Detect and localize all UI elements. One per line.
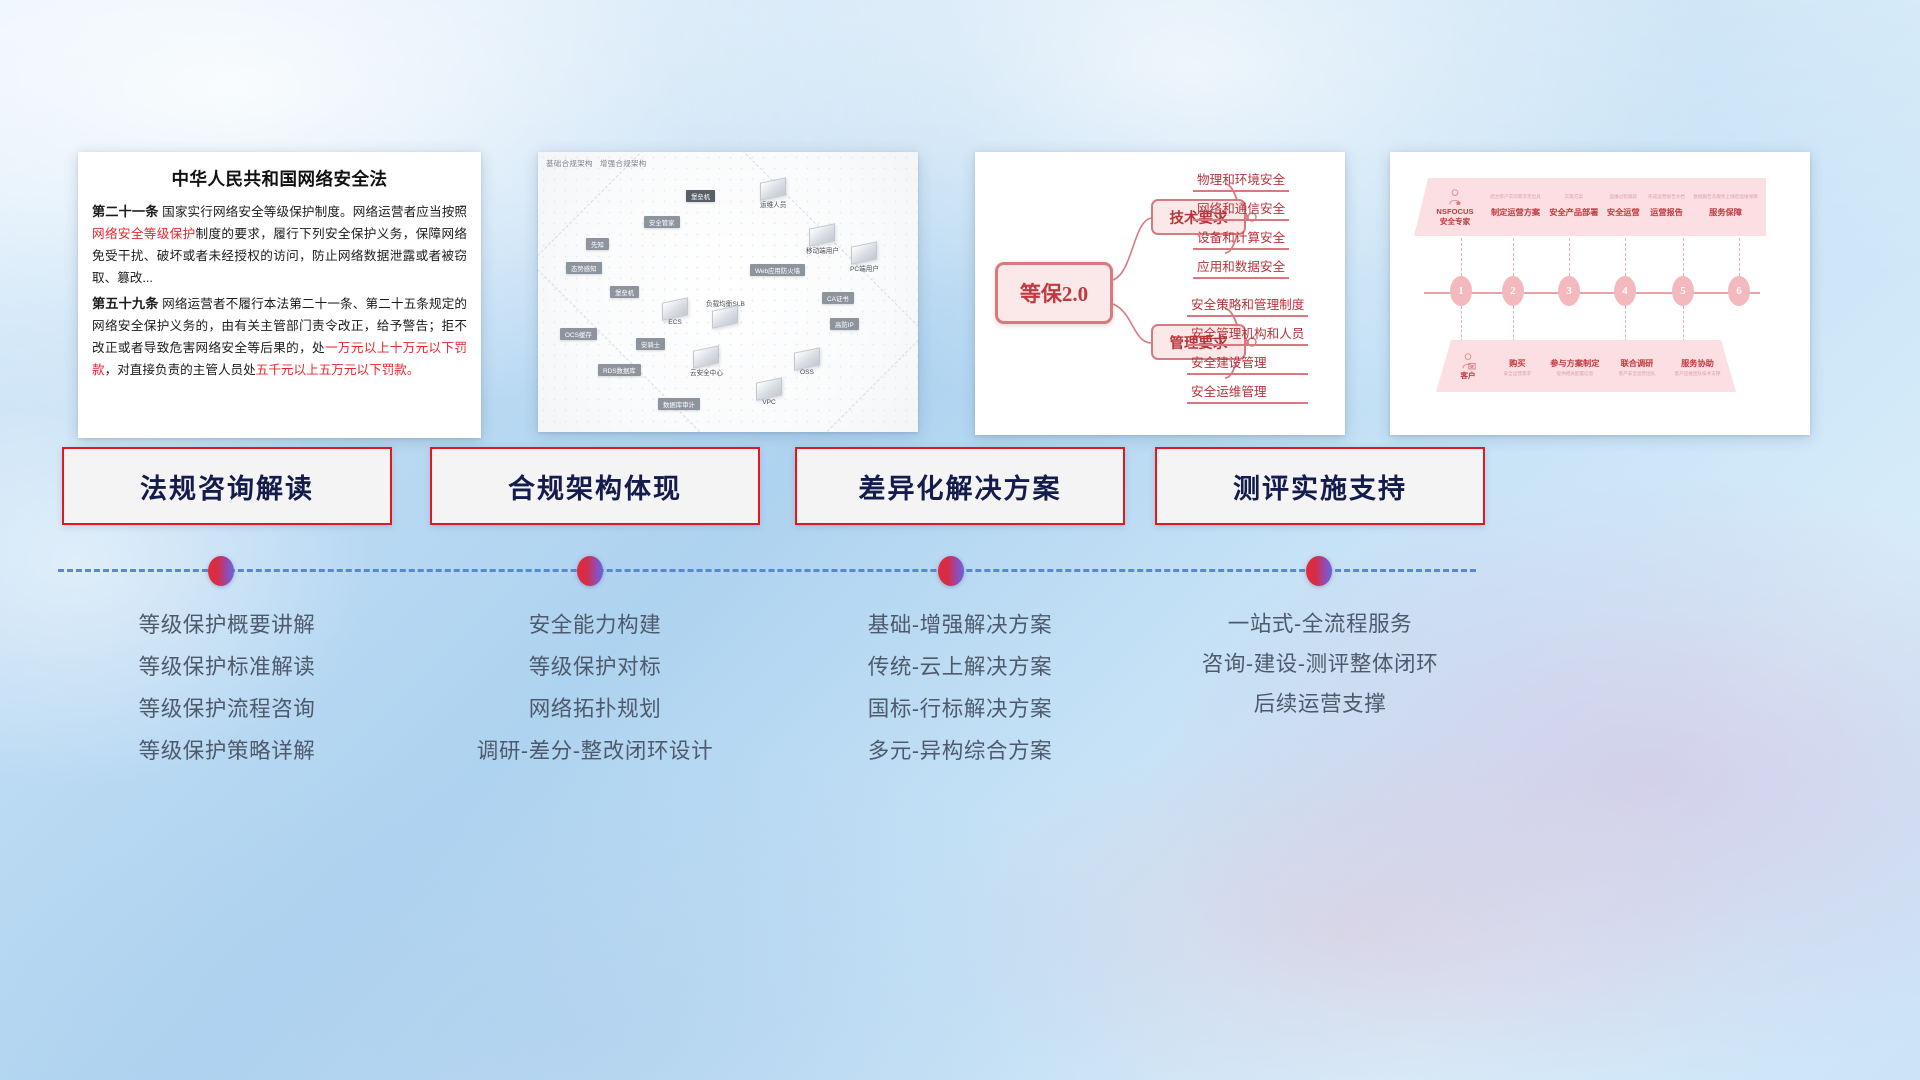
timeline-dash: [1683, 306, 1684, 342]
list-item: 一站式-全流程服务: [1155, 604, 1485, 644]
timeline-axis: [1424, 292, 1760, 294]
timeline-dash: [1513, 306, 1514, 342]
mindmap-leaves-management: 安全策略和管理制度 安全管理机构和人员 安全建设管理 安全运维管理: [1187, 293, 1308, 409]
title-box-evaluation-support[interactable]: 测评实施支持: [1155, 447, 1485, 525]
list-item: 等级保护策略详解: [62, 730, 392, 772]
list-item: 等级保护流程咨询: [62, 688, 392, 730]
node-pill-db-audit: 数据库审计: [658, 398, 700, 410]
node-mobile-user: 移动端用户: [806, 226, 839, 255]
list-item: 后续运营支撑: [1155, 684, 1485, 724]
node-pill-rds-db: RDS数据库: [598, 364, 641, 376]
article-59-highlight-b: 五千元以上五万元以下罚款。: [256, 363, 420, 377]
architecture-tags: 基础合规架构 增强合规架构: [546, 158, 647, 169]
customer-person-icon: [1460, 352, 1476, 370]
list-item: 咨询-建设-测评整体闭环: [1155, 644, 1485, 684]
nsfocus-top-step: 数据报告及服务上线后运维保障服务保障: [1693, 194, 1757, 220]
list-item: 等级保护标准解读: [62, 646, 392, 688]
node-cloud-security-center: 云安全中心: [690, 348, 723, 377]
node-ops-user: 运维人员: [760, 180, 786, 209]
timeline-dashed-line: [58, 569, 1476, 572]
nsfocus-expert-banner: NSFOCUS 安全专家 结合客户实际需求定出具制定运营方案 实施方案安全产品部…: [1414, 178, 1766, 236]
title-box-compliance-architecture[interactable]: 合规架构体现: [430, 447, 760, 525]
node-pill-situational-awareness: 态势感知: [566, 262, 602, 274]
tag-enhanced: 增强合规架构: [600, 158, 647, 169]
nsfocus-bottom-step: 联合调研客户安全运营团队: [1619, 353, 1656, 379]
law-article-59: 第五十九条 网络运营者不履行本法第二十一条、第二十五条规定的网络安全保护义务的，…: [92, 292, 467, 381]
timeline-number: 3: [1558, 276, 1580, 306]
node-oss: OSS: [794, 350, 820, 376]
title-box-legal-consulting[interactable]: 法规咨询解读: [62, 447, 392, 525]
node-vpc: VPC: [756, 380, 782, 406]
nsfocus-bottom-step: 购买安全运营需求: [1504, 353, 1532, 379]
list-item: 等级保护对标: [430, 646, 760, 688]
law-article-21: 第二十一条 国家实行网络安全等级保护制度。网络运营者应当按照网络安全等级保护制度…: [92, 200, 467, 289]
timeline-number: 4: [1614, 276, 1636, 306]
timeline-number: 2: [1502, 276, 1524, 306]
list-item: 网络拓扑规划: [430, 688, 760, 730]
list-item: 国标-行标解决方案: [795, 688, 1125, 730]
description-lists-row: 等级保护概要讲解 等级保护标准解读 等级保护流程咨询 等级保护策略详解 安全能力…: [0, 604, 1920, 824]
timeline-dash: [1569, 238, 1570, 276]
node-pill-security-butler: 安全管家: [644, 216, 680, 228]
timeline-number: 6: [1728, 276, 1750, 306]
progress-timeline: [0, 556, 1920, 590]
mindmap-leaf: 安全策略和管理制度: [1187, 293, 1308, 317]
article-59-label: 第五十九条: [92, 296, 159, 311]
nsfocus-bottom-step: 参与方案制定提供相关配置信息: [1550, 353, 1599, 379]
title-boxes-row: 法规咨询解读 合规架构体现 差异化解决方案 测评实施支持: [0, 447, 1920, 527]
expert-label: NSFOCUS 安全专家: [1426, 207, 1484, 226]
law-title: 中华人民共和国网络安全法: [92, 166, 467, 191]
nsfocus-bottom-step: 服务协助客户运维团队技术支撑: [1674, 353, 1720, 379]
article-21-highlight: 网络安全等级保护: [92, 227, 196, 241]
node-pill-anti-ddos: 高防IP: [830, 318, 859, 330]
mindmap-leaf: 安全建设管理: [1187, 351, 1308, 375]
mindmap-leaf: 安全运维管理: [1187, 380, 1308, 404]
title-label: 测评实施支持: [1233, 467, 1407, 506]
mindmap-leaf: 安全管理机构和人员: [1187, 322, 1308, 346]
mindmap-leaf: 设备和计算安全: [1193, 226, 1289, 250]
timeline-dash: [1625, 238, 1626, 276]
screenshot-cards-row: 中华人民共和国网络安全法 第二十一条 国家实行网络安全等级保护制度。网络运营者应…: [0, 152, 1920, 442]
node-pc-user: PC端用户: [850, 244, 879, 273]
nsfocus-top-step: 运维过程跟踪安全运营: [1607, 194, 1640, 220]
article-21-label: 第二十一条: [92, 204, 159, 219]
tag-basic: 基础合规架构: [546, 158, 593, 169]
list-item: 调研-差分-整改闭环设计: [430, 730, 760, 772]
timeline-dash: [1683, 238, 1684, 276]
mindmap-leaf: 网络和通信安全: [1193, 197, 1289, 221]
timeline-marker-4[interactable]: [1306, 556, 1332, 586]
timeline-dash: [1625, 306, 1626, 342]
card-cloud-architecture: 基础合规架构 增强合规架构 堡垒机 安全管家 先知 态势感知 堡垒机 安骑士 W…: [538, 152, 918, 432]
timeline-dash: [1739, 238, 1740, 276]
article-59-text-b: ，对直接负责的主管人员处: [105, 363, 256, 377]
title-label: 法规咨询解读: [140, 467, 314, 506]
title-box-differentiated-solution[interactable]: 差异化解决方案: [795, 447, 1125, 525]
timeline-number: 1: [1450, 276, 1472, 306]
mindmap-leaf: 应用和数据安全: [1193, 255, 1289, 279]
mindmap-leaves-technical: 物理和环境安全 网络和通信安全 设备和计算安全 应用和数据安全: [1193, 168, 1289, 284]
node-pill-xianzhi: 先知: [586, 238, 609, 250]
nsfocus-top-step: 实施方案安全产品部署: [1549, 194, 1598, 220]
customer-label: 客户: [1439, 371, 1497, 380]
node-ecs: ECS: [662, 300, 688, 326]
card-nsfocus-timeline: NSFOCUS 安全专家 结合客户实际需求定出具制定运营方案 实施方案安全产品部…: [1390, 152, 1810, 435]
timeline-dash: [1513, 238, 1514, 276]
list-item: 基础-增强解决方案: [795, 604, 1125, 646]
timeline-marker-3[interactable]: [938, 556, 964, 586]
list-item: 传统-云上解决方案: [795, 646, 1125, 688]
title-label: 差异化解决方案: [859, 467, 1062, 506]
expert-person-icon: [1447, 188, 1463, 206]
card-cybersecurity-law: 中华人民共和国网络安全法 第二十一条 国家实行网络安全等级保护制度。网络运营者应…: [78, 152, 481, 438]
list-item: 等级保护概要讲解: [62, 604, 392, 646]
nsfocus-top-step: 形成运营报告文档运营报告: [1648, 194, 1685, 220]
description-list-legal-consulting: 等级保护概要讲解 等级保护标准解读 等级保护流程咨询 等级保护策略详解: [62, 604, 392, 772]
list-item: 安全能力构建: [430, 604, 760, 646]
timeline-marker-2[interactable]: [577, 556, 603, 586]
title-label: 合规架构体现: [508, 467, 682, 506]
node-pill-bastion-mid: 堡垒机: [610, 286, 639, 298]
article-21-text-a: 国家实行网络安全等级保护制度。网络运营者应当按照: [159, 205, 468, 219]
nsfocus-customer-banner: 客户 购买安全运营需求 参与方案制定提供相关配置信息 联合调研客户安全运营团队 …: [1436, 340, 1736, 392]
description-list-differentiated-solution: 基础-增强解决方案 传统-云上解决方案 国标-行标解决方案 多元-异构综合方案: [795, 604, 1125, 772]
timeline-dash: [1461, 238, 1462, 276]
timeline-dash: [1461, 306, 1462, 342]
timeline-number: 5: [1672, 276, 1694, 306]
list-item: 多元-异构综合方案: [795, 730, 1125, 772]
card-mindmap-dengbao: 等保2.0 技术要求 管理要求: [975, 152, 1345, 435]
timeline-marker-1[interactable]: [208, 556, 234, 586]
node-pill-ca-cert: CA证书: [822, 292, 854, 304]
mindmap-leaf: 物理和环境安全: [1193, 168, 1289, 192]
description-list-evaluation-support: 一站式-全流程服务 咨询-建设-测评整体闭环 后续运营支撑: [1155, 604, 1485, 724]
node-pill-bastion-top: 堡垒机: [686, 190, 715, 202]
node-pill-web-waf: Web应用防火墙: [750, 264, 805, 276]
node-pill-ocs-cache: OCS缓存: [560, 328, 597, 340]
description-list-compliance-architecture: 安全能力构建 等级保护对标 网络拓扑规划 调研-差分-整改闭环设计: [430, 604, 760, 772]
nsfocus-top-step: 结合客户实际需求定出具制定运营方案: [1490, 194, 1541, 220]
node-pill-anqishi: 安骑士: [636, 338, 665, 350]
node-slb: 负载均衡SLB: [706, 298, 745, 327]
